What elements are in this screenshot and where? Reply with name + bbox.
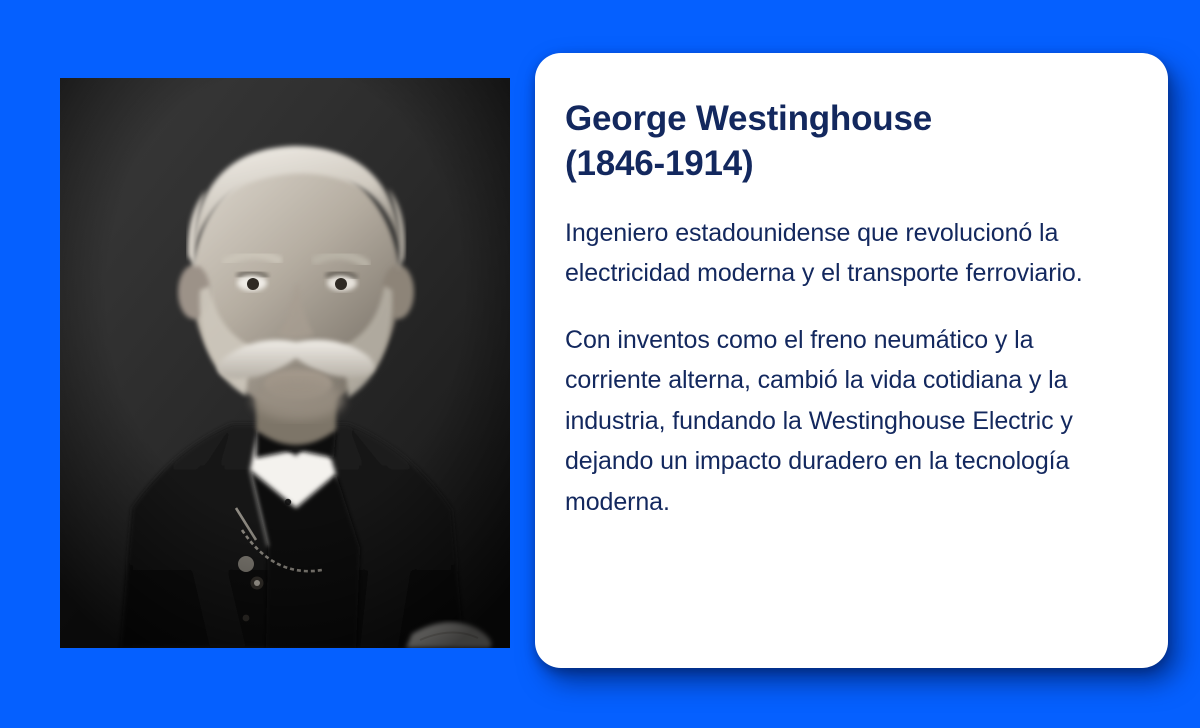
card-title: George Westinghouse (1846-1914): [565, 97, 1134, 187]
portrait-photo: [60, 78, 510, 648]
card-paragraph-1: Ingeniero estadounidense que revolucionó…: [565, 213, 1134, 294]
portrait-illustration: [60, 78, 510, 648]
info-card: George Westinghouse (1846-1914) Ingenier…: [535, 53, 1168, 668]
card-paragraph-2: Con inventos como el freno neumático y l…: [565, 320, 1134, 523]
slide-canvas: George Westinghouse (1846-1914) Ingenier…: [0, 0, 1200, 728]
